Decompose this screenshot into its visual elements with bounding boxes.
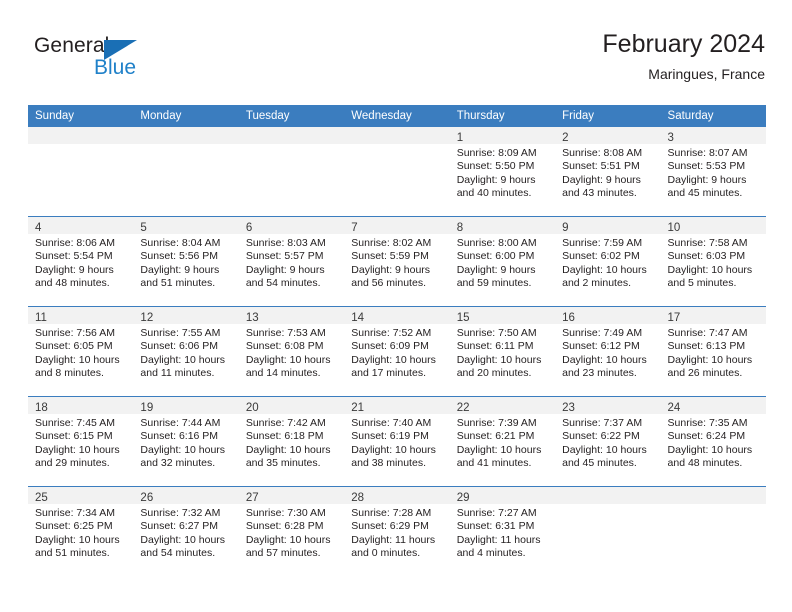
daylight-text-line1: Daylight: 10 hours — [140, 444, 234, 457]
day-number: 11 — [35, 312, 47, 324]
daylight-text-line1: Daylight: 9 hours — [562, 174, 656, 187]
day-cell-details: Sunrise: 8:06 AMSunset: 5:54 PMDaylight:… — [28, 234, 133, 291]
day-cell-details — [239, 144, 344, 147]
day-number-band: 22 — [450, 397, 555, 414]
day-number-band: 5 — [133, 217, 238, 234]
day-number-band: 14 — [344, 307, 449, 324]
sunrise-text: Sunrise: 8:04 AM — [140, 237, 234, 250]
day-cell-inner: 16Sunrise: 7:49 AMSunset: 6:12 PMDayligh… — [555, 307, 660, 396]
calendar-day-cell-empty — [661, 487, 766, 577]
day-number: 23 — [562, 402, 575, 414]
day-number-band: 29 — [450, 487, 555, 504]
day-cell-inner: 22Sunrise: 7:39 AMSunset: 6:21 PMDayligh… — [450, 397, 555, 486]
daylight-text-line1: Daylight: 10 hours — [140, 534, 234, 547]
daylight-text-line2: and 51 minutes. — [35, 547, 129, 560]
sunrise-text: Sunrise: 7:28 AM — [351, 507, 445, 520]
sunrise-text: Sunrise: 7:53 AM — [246, 327, 340, 340]
calendar-day-cell[interactable]: 10Sunrise: 7:58 AMSunset: 6:03 PMDayligh… — [661, 217, 766, 307]
day-cell-inner: 19Sunrise: 7:44 AMSunset: 6:16 PMDayligh… — [133, 397, 238, 486]
calendar-day-cell[interactable]: 16Sunrise: 7:49 AMSunset: 6:12 PMDayligh… — [555, 307, 660, 397]
day-cell-details: Sunrise: 7:50 AMSunset: 6:11 PMDaylight:… — [450, 324, 555, 381]
day-number: 14 — [351, 312, 364, 324]
weekday-header-saturday: Saturday — [661, 105, 766, 127]
sunrise-text: Sunrise: 7:32 AM — [140, 507, 234, 520]
day-cell-inner: 23Sunrise: 7:37 AMSunset: 6:22 PMDayligh… — [555, 397, 660, 486]
sunset-text: Sunset: 6:02 PM — [562, 250, 656, 263]
day-number-band: 8 — [450, 217, 555, 234]
day-cell-inner: 2Sunrise: 8:08 AMSunset: 5:51 PMDaylight… — [555, 127, 660, 216]
day-cell-details — [28, 144, 133, 147]
sunrise-text: Sunrise: 7:42 AM — [246, 417, 340, 430]
daylight-text-line1: Daylight: 10 hours — [562, 354, 656, 367]
day-number-band — [133, 127, 238, 144]
day-cell-inner: 24Sunrise: 7:35 AMSunset: 6:24 PMDayligh… — [661, 397, 766, 486]
calendar-week-row: 11Sunrise: 7:56 AMSunset: 6:05 PMDayligh… — [28, 307, 766, 397]
daylight-text-line2: and 17 minutes. — [351, 367, 445, 380]
day-number-band: 16 — [555, 307, 660, 324]
calendar-page: General Blue February 2024 Maringues, Fr… — [0, 0, 792, 612]
calendar-day-cell[interactable]: 17Sunrise: 7:47 AMSunset: 6:13 PMDayligh… — [661, 307, 766, 397]
day-cell-details: Sunrise: 7:32 AMSunset: 6:27 PMDaylight:… — [133, 504, 238, 561]
sunset-text: Sunset: 5:50 PM — [457, 160, 551, 173]
day-number-band: 4 — [28, 217, 133, 234]
day-cell-details: Sunrise: 7:55 AMSunset: 6:06 PMDaylight:… — [133, 324, 238, 381]
sunset-text: Sunset: 5:51 PM — [562, 160, 656, 173]
daylight-text-line1: Daylight: 11 hours — [457, 534, 551, 547]
sunset-text: Sunset: 6:05 PM — [35, 340, 129, 353]
day-cell-details: Sunrise: 7:39 AMSunset: 6:21 PMDaylight:… — [450, 414, 555, 471]
day-number: 3 — [668, 132, 674, 144]
day-number-band: 25 — [28, 487, 133, 504]
sunset-text: Sunset: 6:00 PM — [457, 250, 551, 263]
daylight-text-line2: and 11 minutes. — [140, 367, 234, 380]
day-number-band: 23 — [555, 397, 660, 414]
sunset-text: Sunset: 6:08 PM — [246, 340, 340, 353]
day-number-band: 2 — [555, 127, 660, 144]
day-cell-details: Sunrise: 7:42 AMSunset: 6:18 PMDaylight:… — [239, 414, 344, 471]
sunset-text: Sunset: 6:03 PM — [668, 250, 762, 263]
calendar-day-cell[interactable]: 7Sunrise: 8:02 AMSunset: 5:59 PMDaylight… — [344, 217, 449, 307]
daylight-text-line1: Daylight: 10 hours — [457, 444, 551, 457]
daylight-text-line1: Daylight: 10 hours — [246, 534, 340, 547]
page-subtitle: Maringues, France — [602, 63, 765, 85]
daylight-text-line2: and 54 minutes. — [140, 547, 234, 560]
day-number: 6 — [246, 222, 252, 234]
day-cell-inner — [133, 127, 238, 216]
day-cell-details: Sunrise: 7:59 AMSunset: 6:02 PMDaylight:… — [555, 234, 660, 291]
calendar-day-cell[interactable]: 27Sunrise: 7:30 AMSunset: 6:28 PMDayligh… — [239, 487, 344, 577]
day-number: 22 — [457, 402, 470, 414]
daylight-text-line1: Daylight: 9 hours — [668, 174, 762, 187]
day-cell-details: Sunrise: 7:44 AMSunset: 6:16 PMDaylight:… — [133, 414, 238, 471]
day-cell-details — [661, 504, 766, 507]
daylight-text-line2: and 54 minutes. — [246, 277, 340, 290]
day-number-band: 6 — [239, 217, 344, 234]
day-number: 7 — [351, 222, 357, 234]
calendar-day-cell[interactable]: 26Sunrise: 7:32 AMSunset: 6:27 PMDayligh… — [133, 487, 238, 577]
daylight-text-line1: Daylight: 10 hours — [35, 444, 129, 457]
day-cell-inner — [555, 487, 660, 576]
day-cell-inner: 3Sunrise: 8:07 AMSunset: 5:53 PMDaylight… — [661, 127, 766, 216]
calendar-day-cell[interactable]: 14Sunrise: 7:52 AMSunset: 6:09 PMDayligh… — [344, 307, 449, 397]
day-cell-details: Sunrise: 8:07 AMSunset: 5:53 PMDaylight:… — [661, 144, 766, 201]
sunset-text: Sunset: 5:57 PM — [246, 250, 340, 263]
sunrise-text: Sunrise: 7:56 AM — [35, 327, 129, 340]
daylight-text-line2: and 14 minutes. — [246, 367, 340, 380]
sunset-text: Sunset: 6:25 PM — [35, 520, 129, 533]
calendar-day-cell[interactable]: 19Sunrise: 7:44 AMSunset: 6:16 PMDayligh… — [133, 397, 238, 487]
day-number-band: 11 — [28, 307, 133, 324]
day-cell-inner: 13Sunrise: 7:53 AMSunset: 6:08 PMDayligh… — [239, 307, 344, 396]
sunrise-text: Sunrise: 8:07 AM — [668, 147, 762, 160]
day-cell-inner: 25Sunrise: 7:34 AMSunset: 6:25 PMDayligh… — [28, 487, 133, 576]
daylight-text-line1: Daylight: 10 hours — [35, 354, 129, 367]
day-number: 1 — [457, 132, 463, 144]
daylight-text-line2: and 35 minutes. — [246, 457, 340, 470]
day-number: 17 — [668, 312, 681, 324]
daylight-text-line1: Daylight: 10 hours — [246, 444, 340, 457]
daylight-text-line2: and 41 minutes. — [457, 457, 551, 470]
calendar-day-cell-empty — [555, 487, 660, 577]
day-cell-inner: 5Sunrise: 8:04 AMSunset: 5:56 PMDaylight… — [133, 217, 238, 306]
daylight-text-line2: and 40 minutes. — [457, 187, 551, 200]
day-cell-details: Sunrise: 7:28 AMSunset: 6:29 PMDaylight:… — [344, 504, 449, 561]
sunrise-text: Sunrise: 7:40 AM — [351, 417, 445, 430]
day-cell-inner: 26Sunrise: 7:32 AMSunset: 6:27 PMDayligh… — [133, 487, 238, 576]
day-number-band: 3 — [661, 127, 766, 144]
day-number-band: 26 — [133, 487, 238, 504]
day-cell-details: Sunrise: 7:45 AMSunset: 6:15 PMDaylight:… — [28, 414, 133, 471]
sunrise-text: Sunrise: 7:47 AM — [668, 327, 762, 340]
day-number-band: 27 — [239, 487, 344, 504]
day-cell-inner: 28Sunrise: 7:28 AMSunset: 6:29 PMDayligh… — [344, 487, 449, 576]
day-cell-details: Sunrise: 7:40 AMSunset: 6:19 PMDaylight:… — [344, 414, 449, 471]
day-cell-inner: 8Sunrise: 8:00 AMSunset: 6:00 PMDaylight… — [450, 217, 555, 306]
calendar-day-cell[interactable]: 2Sunrise: 8:08 AMSunset: 5:51 PMDaylight… — [555, 127, 660, 217]
day-number-band — [344, 127, 449, 144]
sunrise-text: Sunrise: 7:44 AM — [140, 417, 234, 430]
calendar-day-cell[interactable]: 20Sunrise: 7:42 AMSunset: 6:18 PMDayligh… — [239, 397, 344, 487]
calendar-day-cell[interactable]: 28Sunrise: 7:28 AMSunset: 6:29 PMDayligh… — [344, 487, 449, 577]
calendar-week-row: 4Sunrise: 8:06 AMSunset: 5:54 PMDaylight… — [28, 217, 766, 307]
day-number-band — [239, 127, 344, 144]
day-cell-inner: 27Sunrise: 7:30 AMSunset: 6:28 PMDayligh… — [239, 487, 344, 576]
day-cell-details: Sunrise: 8:03 AMSunset: 5:57 PMDaylight:… — [239, 234, 344, 291]
sunset-text: Sunset: 6:28 PM — [246, 520, 340, 533]
day-number-band: 1 — [450, 127, 555, 144]
sunrise-text: Sunrise: 7:27 AM — [457, 507, 551, 520]
day-number-band: 13 — [239, 307, 344, 324]
sunset-text: Sunset: 5:54 PM — [35, 250, 129, 263]
daylight-text-line1: Daylight: 9 hours — [35, 264, 129, 277]
daylight-text-line2: and 48 minutes. — [668, 457, 762, 470]
daylight-text-line1: Daylight: 9 hours — [457, 264, 551, 277]
sunrise-text: Sunrise: 7:59 AM — [562, 237, 656, 250]
calendar-day-cell[interactable]: 9Sunrise: 7:59 AMSunset: 6:02 PMDaylight… — [555, 217, 660, 307]
sunset-text: Sunset: 6:22 PM — [562, 430, 656, 443]
day-number-band: 28 — [344, 487, 449, 504]
day-cell-inner: 4Sunrise: 8:06 AMSunset: 5:54 PMDaylight… — [28, 217, 133, 306]
sunrise-text: Sunrise: 7:37 AM — [562, 417, 656, 430]
daylight-text-line1: Daylight: 9 hours — [457, 174, 551, 187]
day-number-band: 9 — [555, 217, 660, 234]
calendar-day-cell[interactable]: 15Sunrise: 7:50 AMSunset: 6:11 PMDayligh… — [450, 307, 555, 397]
day-cell-inner: 6Sunrise: 8:03 AMSunset: 5:57 PMDaylight… — [239, 217, 344, 306]
day-cell-details: Sunrise: 7:35 AMSunset: 6:24 PMDaylight:… — [661, 414, 766, 471]
calendar-day-cell[interactable]: 23Sunrise: 7:37 AMSunset: 6:22 PMDayligh… — [555, 397, 660, 487]
sunset-text: Sunset: 6:24 PM — [668, 430, 762, 443]
calendar-day-cell[interactable]: 8Sunrise: 8:00 AMSunset: 6:00 PMDaylight… — [450, 217, 555, 307]
daylight-text-line1: Daylight: 9 hours — [246, 264, 340, 277]
daylight-text-line2: and 51 minutes. — [140, 277, 234, 290]
day-cell-details: Sunrise: 7:58 AMSunset: 6:03 PMDaylight:… — [661, 234, 766, 291]
sunset-text: Sunset: 5:59 PM — [351, 250, 445, 263]
day-cell-details: Sunrise: 7:52 AMSunset: 6:09 PMDaylight:… — [344, 324, 449, 381]
calendar-day-cell-empty — [239, 127, 344, 217]
daylight-text-line2: and 5 minutes. — [668, 277, 762, 290]
daylight-text-line1: Daylight: 10 hours — [351, 444, 445, 457]
daylight-text-line1: Daylight: 10 hours — [668, 354, 762, 367]
day-cell-inner: 7Sunrise: 8:02 AMSunset: 5:59 PMDaylight… — [344, 217, 449, 306]
day-number: 16 — [562, 312, 575, 324]
daylight-text-line1: Daylight: 10 hours — [35, 534, 129, 547]
sunrise-text: Sunrise: 7:39 AM — [457, 417, 551, 430]
daylight-text-line1: Daylight: 10 hours — [562, 264, 656, 277]
day-number-band: 12 — [133, 307, 238, 324]
daylight-text-line2: and 26 minutes. — [668, 367, 762, 380]
daylight-text-line1: Daylight: 10 hours — [351, 354, 445, 367]
daylight-text-line1: Daylight: 10 hours — [246, 354, 340, 367]
logo-text-blue: Blue — [94, 56, 136, 80]
weekday-header-wednesday: Wednesday — [344, 105, 449, 127]
calendar-header-row: SundayMondayTuesdayWednesdayThursdayFrid… — [28, 105, 766, 127]
sunrise-text: Sunrise: 8:09 AM — [457, 147, 551, 160]
day-cell-details — [133, 144, 238, 147]
calendar-day-cell[interactable]: 6Sunrise: 8:03 AMSunset: 5:57 PMDaylight… — [239, 217, 344, 307]
day-number: 25 — [35, 492, 48, 504]
daylight-text-line1: Daylight: 9 hours — [140, 264, 234, 277]
daylight-text-line2: and 8 minutes. — [35, 367, 129, 380]
day-number-band: 17 — [661, 307, 766, 324]
daylight-text-line2: and 56 minutes. — [351, 277, 445, 290]
day-number: 10 — [668, 222, 681, 234]
day-number: 8 — [457, 222, 463, 234]
daylight-text-line2: and 0 minutes. — [351, 547, 445, 560]
calendar-day-cell[interactable]: 18Sunrise: 7:45 AMSunset: 6:15 PMDayligh… — [28, 397, 133, 487]
calendar-day-cell[interactable]: 13Sunrise: 7:53 AMSunset: 6:08 PMDayligh… — [239, 307, 344, 397]
day-number: 18 — [35, 402, 48, 414]
daylight-text-line2: and 45 minutes. — [562, 457, 656, 470]
calendar-day-cell[interactable]: 24Sunrise: 7:35 AMSunset: 6:24 PMDayligh… — [661, 397, 766, 487]
daylight-text-line1: Daylight: 10 hours — [668, 444, 762, 457]
daylight-text-line2: and 38 minutes. — [351, 457, 445, 470]
calendar-day-cell[interactable]: 22Sunrise: 7:39 AMSunset: 6:21 PMDayligh… — [450, 397, 555, 487]
calendar-day-cell[interactable]: 1Sunrise: 8:09 AMSunset: 5:50 PMDaylight… — [450, 127, 555, 217]
calendar-day-cell[interactable]: 11Sunrise: 7:56 AMSunset: 6:05 PMDayligh… — [28, 307, 133, 397]
day-number: 4 — [35, 222, 41, 234]
sunrise-text: Sunrise: 7:55 AM — [140, 327, 234, 340]
daylight-text-line1: Daylight: 9 hours — [351, 264, 445, 277]
weekday-header-thursday: Thursday — [450, 105, 555, 127]
day-number-band: 19 — [133, 397, 238, 414]
day-cell-details: Sunrise: 8:08 AMSunset: 5:51 PMDaylight:… — [555, 144, 660, 201]
day-cell-details — [555, 504, 660, 507]
day-cell-inner: 17Sunrise: 7:47 AMSunset: 6:13 PMDayligh… — [661, 307, 766, 396]
day-number-band — [28, 127, 133, 144]
day-number-band: 10 — [661, 217, 766, 234]
calendar-day-cell[interactable]: 21Sunrise: 7:40 AMSunset: 6:19 PMDayligh… — [344, 397, 449, 487]
daylight-text-line2: and 45 minutes. — [668, 187, 762, 200]
day-number: 28 — [351, 492, 364, 504]
daylight-text-line1: Daylight: 10 hours — [668, 264, 762, 277]
day-cell-inner — [28, 127, 133, 216]
day-cell-details: Sunrise: 8:09 AMSunset: 5:50 PMDaylight:… — [450, 144, 555, 201]
day-number: 2 — [562, 132, 568, 144]
sunset-text: Sunset: 6:19 PM — [351, 430, 445, 443]
day-number-band: 21 — [344, 397, 449, 414]
sunrise-text: Sunrise: 8:03 AM — [246, 237, 340, 250]
sunrise-text: Sunrise: 7:35 AM — [668, 417, 762, 430]
daylight-text-line2: and 2 minutes. — [562, 277, 656, 290]
daylight-text-line2: and 29 minutes. — [35, 457, 129, 470]
sunrise-text: Sunrise: 8:02 AM — [351, 237, 445, 250]
day-cell-details: Sunrise: 7:47 AMSunset: 6:13 PMDaylight:… — [661, 324, 766, 381]
sunset-text: Sunset: 6:31 PM — [457, 520, 551, 533]
day-cell-inner: 11Sunrise: 7:56 AMSunset: 6:05 PMDayligh… — [28, 307, 133, 396]
day-cell-details: Sunrise: 7:53 AMSunset: 6:08 PMDaylight:… — [239, 324, 344, 381]
day-cell-details: Sunrise: 7:27 AMSunset: 6:31 PMDaylight:… — [450, 504, 555, 561]
sunrise-text: Sunrise: 7:58 AM — [668, 237, 762, 250]
weekday-header-tuesday: Tuesday — [239, 105, 344, 127]
sunset-text: Sunset: 6:11 PM — [457, 340, 551, 353]
day-number-band: 15 — [450, 307, 555, 324]
day-number-band: 20 — [239, 397, 344, 414]
sunrise-text: Sunrise: 7:52 AM — [351, 327, 445, 340]
calendar-day-cell-empty — [133, 127, 238, 217]
daylight-text-line2: and 59 minutes. — [457, 277, 551, 290]
sunset-text: Sunset: 5:56 PM — [140, 250, 234, 263]
day-cell-details: Sunrise: 8:00 AMSunset: 6:00 PMDaylight:… — [450, 234, 555, 291]
calendar-day-cell[interactable]: 4Sunrise: 8:06 AMSunset: 5:54 PMDaylight… — [28, 217, 133, 307]
general-blue-logo[interactable]: General Blue — [34, 34, 184, 90]
calendar-week-row: 18Sunrise: 7:45 AMSunset: 6:15 PMDayligh… — [28, 397, 766, 487]
daylight-text-line2: and 4 minutes. — [457, 547, 551, 560]
page-title: February 2024 — [602, 28, 765, 60]
day-cell-inner — [239, 127, 344, 216]
day-number-band: 7 — [344, 217, 449, 234]
day-number-band — [555, 487, 660, 504]
daylight-text-line2: and 20 minutes. — [457, 367, 551, 380]
day-cell-inner: 10Sunrise: 7:58 AMSunset: 6:03 PMDayligh… — [661, 217, 766, 306]
calendar-week-row: 1Sunrise: 8:09 AMSunset: 5:50 PMDaylight… — [28, 127, 766, 217]
calendar-grid: SundayMondayTuesdayWednesdayThursdayFrid… — [28, 105, 766, 576]
page-header: General Blue February 2024 Maringues, Fr… — [28, 28, 765, 96]
daylight-text-line2: and 43 minutes. — [562, 187, 656, 200]
calendar-day-cell[interactable]: 3Sunrise: 8:07 AMSunset: 5:53 PMDaylight… — [661, 127, 766, 217]
day-number-band — [661, 487, 766, 504]
day-number-band: 24 — [661, 397, 766, 414]
sunset-text: Sunset: 6:06 PM — [140, 340, 234, 353]
sunrise-text: Sunrise: 8:06 AM — [35, 237, 129, 250]
day-number: 26 — [140, 492, 153, 504]
logo-text-general: General — [34, 34, 109, 58]
day-cell-details: Sunrise: 7:30 AMSunset: 6:28 PMDaylight:… — [239, 504, 344, 561]
daylight-text-line2: and 57 minutes. — [246, 547, 340, 560]
calendar-day-cell[interactable]: 5Sunrise: 8:04 AMSunset: 5:56 PMDaylight… — [133, 217, 238, 307]
day-cell-inner: 1Sunrise: 8:09 AMSunset: 5:50 PMDaylight… — [450, 127, 555, 216]
calendar-body: 1Sunrise: 8:09 AMSunset: 5:50 PMDaylight… — [28, 127, 766, 576]
day-number: 15 — [457, 312, 470, 324]
sunset-text: Sunset: 6:29 PM — [351, 520, 445, 533]
day-cell-inner: 15Sunrise: 7:50 AMSunset: 6:11 PMDayligh… — [450, 307, 555, 396]
day-cell-inner: 18Sunrise: 7:45 AMSunset: 6:15 PMDayligh… — [28, 397, 133, 486]
day-cell-inner: 21Sunrise: 7:40 AMSunset: 6:19 PMDayligh… — [344, 397, 449, 486]
day-cell-details: Sunrise: 8:02 AMSunset: 5:59 PMDaylight:… — [344, 234, 449, 291]
sunrise-text: Sunrise: 7:34 AM — [35, 507, 129, 520]
day-number: 5 — [140, 222, 146, 234]
daylight-text-line1: Daylight: 10 hours — [457, 354, 551, 367]
weekday-header-sunday: Sunday — [28, 105, 133, 127]
day-cell-inner — [661, 487, 766, 576]
day-cell-details: Sunrise: 7:34 AMSunset: 6:25 PMDaylight:… — [28, 504, 133, 561]
day-number-band: 18 — [28, 397, 133, 414]
calendar-day-cell[interactable]: 12Sunrise: 7:55 AMSunset: 6:06 PMDayligh… — [133, 307, 238, 397]
sunrise-text: Sunrise: 7:30 AM — [246, 507, 340, 520]
sunset-text: Sunset: 6:12 PM — [562, 340, 656, 353]
day-cell-inner: 12Sunrise: 7:55 AMSunset: 6:06 PMDayligh… — [133, 307, 238, 396]
sunset-text: Sunset: 6:21 PM — [457, 430, 551, 443]
day-cell-details — [344, 144, 449, 147]
calendar-day-cell[interactable]: 25Sunrise: 7:34 AMSunset: 6:25 PMDayligh… — [28, 487, 133, 577]
sunset-text: Sunset: 6:18 PM — [246, 430, 340, 443]
title-block: February 2024 Maringues, France — [602, 28, 765, 85]
day-number: 29 — [457, 492, 470, 504]
sunrise-text: Sunrise: 7:49 AM — [562, 327, 656, 340]
calendar-week-row: 25Sunrise: 7:34 AMSunset: 6:25 PMDayligh… — [28, 487, 766, 577]
calendar-day-cell[interactable]: 29Sunrise: 7:27 AMSunset: 6:31 PMDayligh… — [450, 487, 555, 577]
daylight-text-line2: and 32 minutes. — [140, 457, 234, 470]
day-number: 20 — [246, 402, 259, 414]
daylight-text-line1: Daylight: 10 hours — [562, 444, 656, 457]
sunset-text: Sunset: 6:13 PM — [668, 340, 762, 353]
day-cell-details: Sunrise: 7:56 AMSunset: 6:05 PMDaylight:… — [28, 324, 133, 381]
day-cell-inner: 29Sunrise: 7:27 AMSunset: 6:31 PMDayligh… — [450, 487, 555, 576]
day-cell-inner — [344, 127, 449, 216]
day-cell-details: Sunrise: 7:37 AMSunset: 6:22 PMDaylight:… — [555, 414, 660, 471]
day-cell-inner: 9Sunrise: 7:59 AMSunset: 6:02 PMDaylight… — [555, 217, 660, 306]
calendar-day-cell-empty — [28, 127, 133, 217]
weekday-header-row: SundayMondayTuesdayWednesdayThursdayFrid… — [28, 105, 766, 127]
sunrise-text: Sunrise: 8:00 AM — [457, 237, 551, 250]
weekday-header-friday: Friday — [555, 105, 660, 127]
day-cell-inner: 14Sunrise: 7:52 AMSunset: 6:09 PMDayligh… — [344, 307, 449, 396]
sunset-text: Sunset: 6:27 PM — [140, 520, 234, 533]
sunrise-text: Sunrise: 8:08 AM — [562, 147, 656, 160]
day-number: 27 — [246, 492, 259, 504]
daylight-text-line1: Daylight: 10 hours — [140, 354, 234, 367]
day-number: 24 — [668, 402, 681, 414]
daylight-text-line2: and 23 minutes. — [562, 367, 656, 380]
day-number: 21 — [351, 402, 364, 414]
sunset-text: Sunset: 6:09 PM — [351, 340, 445, 353]
day-cell-inner: 20Sunrise: 7:42 AMSunset: 6:18 PMDayligh… — [239, 397, 344, 486]
day-number: 12 — [140, 312, 153, 324]
sunset-text: Sunset: 6:15 PM — [35, 430, 129, 443]
sunrise-text: Sunrise: 7:50 AM — [457, 327, 551, 340]
daylight-text-line1: Daylight: 11 hours — [351, 534, 445, 547]
day-number: 19 — [140, 402, 153, 414]
day-number: 13 — [246, 312, 259, 324]
